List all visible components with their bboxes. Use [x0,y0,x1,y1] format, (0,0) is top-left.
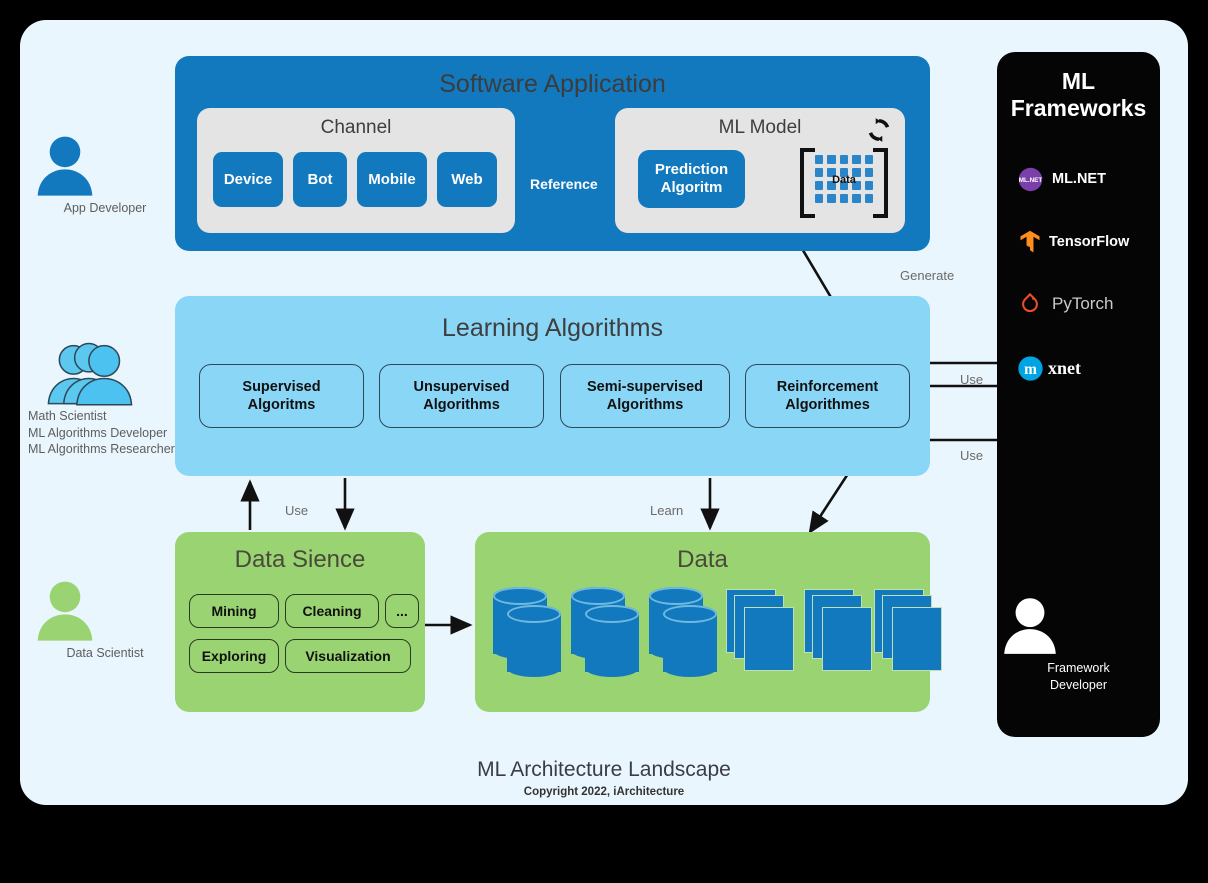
svg-text:ML.NET: ML.NET [1018,177,1042,184]
people-group-icon [32,338,172,408]
software-application-title: Software Application [175,70,930,99]
database-stack [493,587,561,677]
persona-app-developer: App Developer [30,130,180,217]
ml-frameworks-title: ML Frameworks [997,68,1160,121]
persona-framework-developer: Framework Developer [997,592,1160,693]
ml-frameworks-panel: ML Frameworks ML.NET ML.NET TensorFlow [997,52,1160,737]
channel-chip-bot[interactable]: Bot [293,152,347,207]
persona-label-data-scientist: Data Scientist [30,645,180,662]
data-science-title: Data Sience [175,546,425,574]
document-stack [727,590,799,680]
caption-title: ML Architecture Landscape [20,758,1188,782]
card-line-2: Algoritms [248,396,316,414]
persona-label-line-2: Developer [997,677,1160,694]
arrow-label-use-algorithms: Use [960,372,983,387]
person-icon [30,130,100,200]
algorithm-card-unsupervised[interactable]: Unsupervised Algorithms [379,364,544,428]
ds-chip-mining[interactable]: Mining [189,594,279,628]
persona-label-app-developer: App Developer [30,200,180,217]
persona-math-scientist: Math Scientist ML Algorithms Developer M… [18,338,218,458]
persona-label-line-3: ML Algorithms Researcher [28,441,218,458]
diagram-canvas: Software Application Channel Device Bot … [20,20,1188,805]
ml-model-box: ML Model Prediction Algoritm [615,108,905,233]
learning-algorithms-title: Learning Algorithms [175,314,930,343]
persona-data-scientist: Data Scientist [30,575,180,662]
card-line-2: Algorithms [607,396,684,414]
mlnet-logo-icon: ML.NET [1015,164,1045,194]
persona-label-line-2: ML Algorithms Developer [28,425,218,442]
data-panel-title: Data [475,546,930,574]
data-matrix: Data [800,148,888,210]
ds-chip-visualization[interactable]: Visualization [285,639,411,673]
framework-label-pytorch: PyTorch [1052,294,1113,314]
persona-label-line-1: Math Scientist [28,408,218,425]
framework-item-mxnet[interactable]: m xnet [997,348,1160,388]
card-line-1: Semi-supervised [587,378,703,396]
ds-chip-more[interactable]: ... [385,594,419,628]
framework-label-mxnet: xnet [1048,358,1081,379]
persona-label-line-1: Framework [997,660,1160,677]
framework-item-mlnet[interactable]: ML.NET ML.NET [997,159,1160,199]
framework-label-tensorflow: TensorFlow [1049,234,1129,250]
algorithm-card-supervised[interactable]: Supervised Algoritms [199,364,364,428]
card-line-2: Algorithms [423,396,500,414]
refresh-icon[interactable] [865,116,893,144]
ds-chip-exploring[interactable]: Exploring [189,639,279,673]
card-line-2: Algorithmes [785,396,870,414]
algorithm-card-semi-supervised[interactable]: Semi-supervised Algorithms [560,364,730,428]
mxnet-logo-icon: m [1015,353,1045,383]
algorithm-card-reinforcement[interactable]: Reinforcement Algorithmes [745,364,910,428]
ds-chip-cleaning[interactable]: Cleaning [285,594,379,628]
framework-label-mlnet: ML.NET [1052,171,1106,187]
card-line-1: Unsupervised [414,378,510,396]
channel-title: Channel [197,117,515,139]
channel-chip-device[interactable]: Device [213,152,283,207]
reference-arrow-label: Reference [530,176,598,192]
learning-algorithms-panel: Learning Algorithms Supervised Algoritms… [175,296,930,476]
arrow-label-learn: Learn [650,503,683,518]
prediction-line-1: Prediction [655,161,728,179]
pytorch-logo-icon [1015,289,1045,319]
data-science-panel: Data Sience Mining Cleaning ... Explorin… [175,532,425,712]
document-stack [875,590,947,680]
channel-chip-mobile[interactable]: Mobile [357,152,427,207]
data-matrix-label: Data [800,174,888,186]
caption: ML Architecture Landscape Copyright 2022… [20,758,1188,798]
card-line-1: Supervised [242,378,320,396]
caption-copyright: Copyright 2022, iArchitecture [20,786,1188,798]
framework-item-pytorch[interactable]: PyTorch [997,284,1160,324]
prediction-algorithm-box[interactable]: Prediction Algoritm [638,150,745,208]
arrow-label-generate: Generate [900,268,954,283]
person-icon [30,575,100,645]
channel-box: Channel Device Bot Mobile Web [197,108,515,233]
database-stack [649,587,717,677]
software-application-panel: Software Application Channel Device Bot … [175,56,930,251]
tensorflow-logo-icon [1015,227,1045,257]
prediction-line-2: Algoritm [661,179,723,197]
card-line-1: Reinforcement [777,378,879,396]
framework-item-tensorflow[interactable]: TensorFlow [997,222,1160,262]
fw-title-line-1: ML [997,68,1160,95]
svg-text:m: m [1024,360,1037,377]
ml-model-title: ML Model [615,117,905,139]
fw-title-line-2: Frameworks [997,95,1160,122]
arrow-label-use-data: Use [960,448,983,463]
data-panel: Data [475,532,930,712]
arrow-label-use-datascience: Use [285,503,308,518]
person-icon [997,592,1063,658]
document-stack [805,590,877,680]
channel-chip-web[interactable]: Web [437,152,497,207]
database-stack [571,587,639,677]
